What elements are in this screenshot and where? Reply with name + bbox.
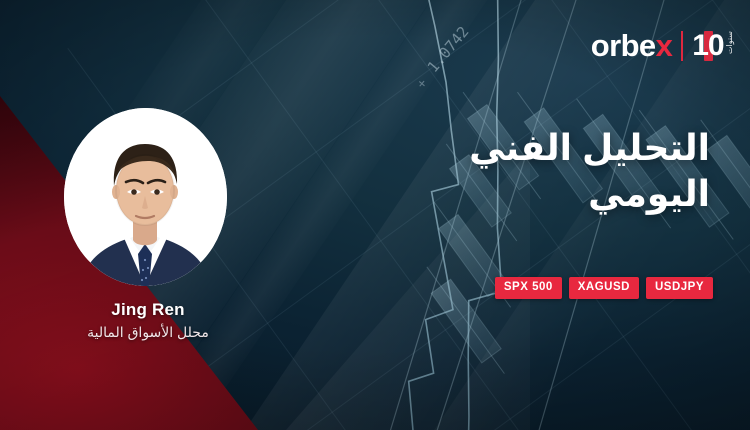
anniversary-number-text: 10 [692, 29, 723, 62]
anniversary-label: سنوات [726, 31, 734, 61]
instrument-badges: SPX 500 XAGUSD USDJPY [495, 277, 713, 299]
badge-xagusd[interactable]: XAGUSD [569, 277, 639, 299]
presenter-info: Jing Ren محلل الأسواق المالية [30, 300, 266, 341]
anniversary-number: 10 [692, 31, 723, 61]
headline-line-1: التحليل الفني [380, 125, 710, 171]
badge-spx500[interactable]: SPX 500 [495, 277, 562, 299]
presenter-role: محلل الأسواق المالية [30, 324, 266, 341]
promo-banner: 1.0742 + [0, 0, 750, 430]
logo-wordmark: orbex [591, 30, 672, 61]
anniversary-mark: 10 سنوات [692, 31, 734, 61]
logo-word-main: orbe [591, 28, 656, 63]
headline: التحليل الفني اليومي [380, 125, 710, 217]
orbex-logo[interactable]: orbex 10 سنوات [591, 30, 734, 61]
badge-usdjpy[interactable]: USDJPY [646, 277, 713, 299]
logo-word-accent: x [656, 28, 673, 63]
presenter-name: Jing Ren [30, 300, 266, 320]
logo-divider [681, 31, 683, 61]
presenter-avatar [64, 108, 227, 286]
headline-line-2: اليومي [380, 171, 710, 217]
